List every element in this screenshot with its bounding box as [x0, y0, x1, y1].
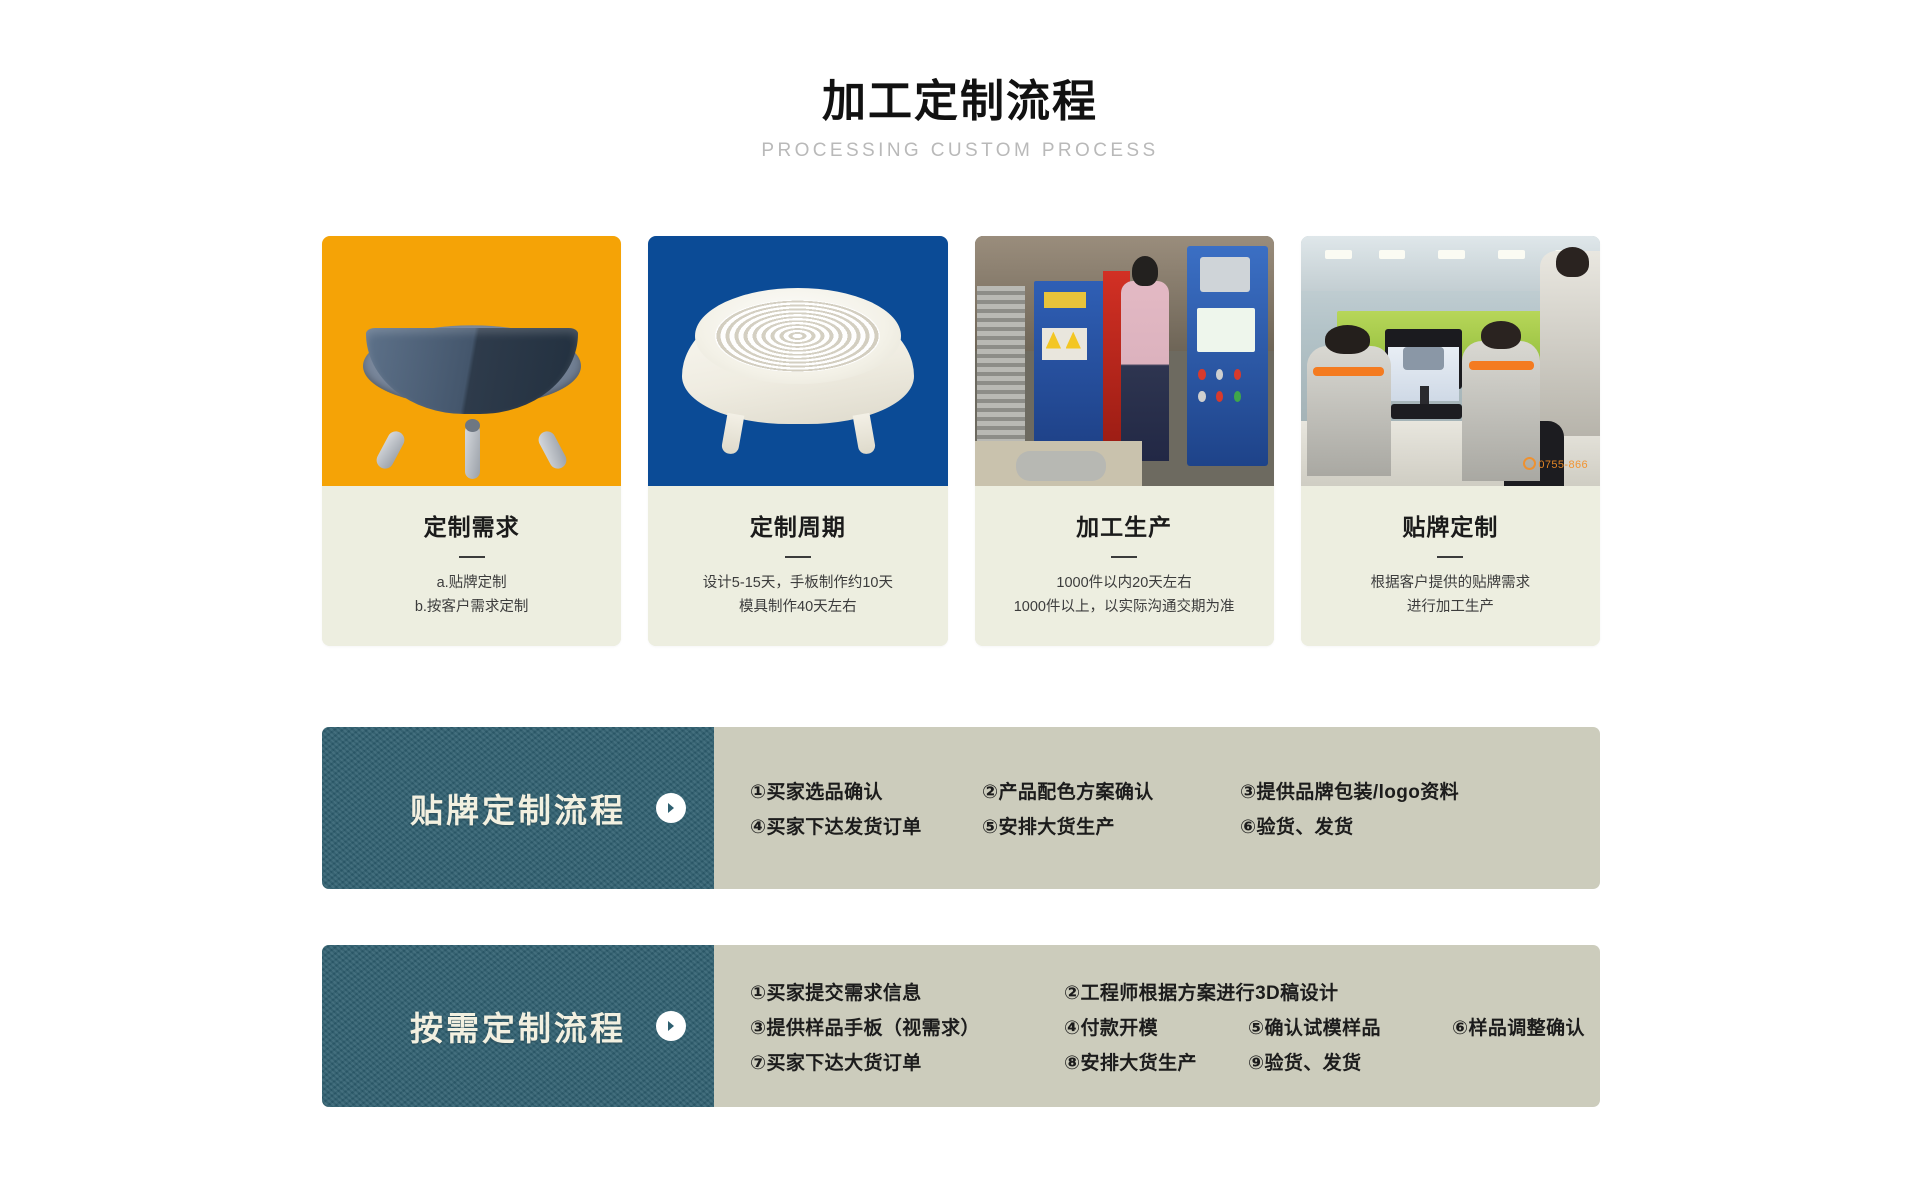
- card-divider: [1437, 556, 1463, 558]
- ondemand-banner-label: 按需定制流程: [322, 945, 714, 1107]
- oem-banner-label: 贴牌定制流程: [322, 727, 714, 889]
- page-title: 加工定制流程: [0, 78, 1920, 126]
- monitor-with-cad: [1385, 329, 1463, 389]
- product-leg-center: [465, 424, 480, 479]
- molded-part: [1016, 451, 1106, 481]
- process-step: ③提供样品手板（视需求）: [750, 1013, 1050, 1040]
- card-2-body: 定制周期 设计5-15天，手板制作约10天 模具制作40天左右: [648, 486, 947, 646]
- machine-label: [1044, 292, 1086, 308]
- card-3-image-factory: [975, 236, 1274, 486]
- person-left: [1307, 346, 1391, 476]
- card-line: b.按客户需求定制: [336, 596, 607, 620]
- monitor-stand: [1420, 386, 1429, 404]
- card-4-body: 贴牌定制 根据客户提供的贴牌需求 进行加工生产: [1301, 486, 1600, 646]
- process-step: ①买家提交需求信息: [750, 978, 1050, 1005]
- blue-machine: [1034, 281, 1112, 461]
- process-step: ②产品配色方案确认: [982, 777, 1240, 804]
- step-row: ①买家选品确认 ②产品配色方案确认 ③提供品牌包装/logo资料: [750, 777, 1574, 804]
- process-card-4[interactable]: 0755-866 贴牌定制 根据客户提供的贴牌需求 进行加工生产: [1301, 236, 1600, 646]
- prototype-leg-right: [853, 413, 877, 455]
- oem-process-banner: 贴牌定制流程 ①买家选品确认 ②产品配色方案确认 ③提供品牌包装/logo资料 …: [322, 727, 1600, 889]
- panel-screen-main: [1197, 308, 1255, 352]
- step-row: ③提供样品手板（视需求） ④付款开模 ⑤确认试模样品 ⑥样品调整确认: [750, 1013, 1599, 1040]
- process-card-2[interactable]: 定制周期 设计5-15天，手板制作约10天 模具制作40天左右: [648, 236, 947, 646]
- card-2-image-prototype: [648, 236, 947, 486]
- card-3-body: 加工生产 1000件以内20天左右 1000件以上，以实际沟通交期为准: [975, 486, 1274, 646]
- banner-label-text: 按需定制流程: [410, 1002, 626, 1050]
- oem-banner-steps: ①买家选品确认 ②产品配色方案确认 ③提供品牌包装/logo资料 ④买家下达发货…: [714, 727, 1600, 889]
- step-row: ⑦买家下达大货订单 ⑧安排大货生产 ⑨验货、发货: [750, 1048, 1599, 1075]
- process-step: ③提供品牌包装/logo资料: [1240, 777, 1459, 804]
- product-leg-right: [536, 428, 570, 471]
- prototype-top-shape: [695, 288, 901, 384]
- process-cards: 定制需求 a.贴牌定制 b.按客户需求定制 定制周期 设计5-15天，手板制作约…: [322, 236, 1600, 646]
- process-card-3[interactable]: 加工生产 1000件以内20天左右 1000件以上，以实际沟通交期为准: [975, 236, 1274, 646]
- prototype-leg-left: [721, 413, 745, 455]
- office-photo: 0755-866: [1301, 236, 1600, 486]
- process-step: ⑤安排大货生产: [982, 812, 1240, 839]
- card-title: 定制需求: [336, 508, 607, 542]
- warning-sign: [1042, 328, 1087, 360]
- step-row: ①买家提交需求信息 ②工程师根据方案进行3D稿设计: [750, 978, 1599, 1005]
- chevron-right-icon[interactable]: [656, 1011, 686, 1041]
- process-step: ⑤确认试模样品: [1248, 1013, 1438, 1040]
- card-title: 加工生产: [989, 508, 1260, 542]
- card-1-body: 定制需求 a.贴牌定制 b.按客户需求定制: [322, 486, 621, 646]
- card-line: 模具制作40天左右: [662, 596, 933, 620]
- process-card-1[interactable]: 定制需求 a.贴牌定制 b.按客户需求定制: [322, 236, 621, 646]
- banner-label-text: 贴牌定制流程: [410, 784, 626, 832]
- process-step: ⑨验货、发货: [1248, 1048, 1438, 1075]
- keyboard: [1391, 404, 1463, 419]
- card-line: 根据客户提供的贴牌需求: [1315, 572, 1586, 596]
- process-step: ④买家下达发货订单: [750, 812, 982, 839]
- process-step: ⑥验货、发货: [1240, 812, 1354, 839]
- card-title: 定制周期: [662, 508, 933, 542]
- page-root: 加工定制流程 PROCESSING CUSTOM PROCESS 定制需求 a.…: [0, 0, 1920, 1200]
- watermark-text: 0755-866: [1538, 459, 1588, 471]
- process-step: ⑧安排大货生产: [1064, 1048, 1234, 1075]
- card-title: 贴牌定制: [1315, 508, 1586, 542]
- process-step: ④付款开模: [1064, 1013, 1234, 1040]
- card-line: a.贴牌定制: [336, 572, 607, 596]
- factory-photo: [975, 236, 1274, 486]
- factory-worker: [1121, 281, 1169, 461]
- ondemand-banner-steps: ①买家提交需求信息 ②工程师根据方案进行3D稿设计 ③提供样品手板（视需求） ④…: [714, 945, 1600, 1107]
- photo-watermark: 0755-866: [1523, 457, 1588, 471]
- card-line: 设计5-15天，手板制作约10天: [662, 572, 933, 596]
- card-4-image-office: 0755-866: [1301, 236, 1600, 486]
- product-bowl-shape: [366, 328, 578, 414]
- page-subtitle: PROCESSING CUSTOM PROCESS: [0, 140, 1920, 162]
- card-divider: [459, 556, 485, 558]
- card-divider: [785, 556, 811, 558]
- stacked-parts: [977, 286, 1025, 441]
- process-step: ⑥样品调整确认: [1452, 1013, 1585, 1040]
- card-line: 进行加工生产: [1315, 596, 1586, 620]
- product-leg-left: [374, 428, 408, 471]
- watermark-ring-icon: [1523, 457, 1536, 470]
- card-divider: [1111, 556, 1137, 558]
- control-panel: [1187, 246, 1268, 466]
- step-row: ④买家下达发货订单 ⑤安排大货生产 ⑥验货、发货: [750, 812, 1574, 839]
- ondemand-process-banner: 按需定制流程 ①买家提交需求信息 ②工程师根据方案进行3D稿设计 ③提供样品手板…: [322, 945, 1600, 1107]
- person-standing: [1540, 251, 1600, 436]
- process-step: ⑦买家下达大货订单: [750, 1048, 1050, 1075]
- panel-screen-top: [1200, 257, 1250, 292]
- card-line: 1000件以上，以实际沟通交期为准: [989, 596, 1260, 620]
- card-line: 1000件以内20天左右: [989, 572, 1260, 596]
- card-1-image-exploded-product: [322, 236, 621, 486]
- process-step: ①买家选品确认: [750, 777, 982, 804]
- chevron-right-icon[interactable]: [656, 793, 686, 823]
- process-step: ②工程师根据方案进行3D稿设计: [1064, 978, 1338, 1005]
- page-header: 加工定制流程 PROCESSING CUSTOM PROCESS: [0, 0, 1920, 162]
